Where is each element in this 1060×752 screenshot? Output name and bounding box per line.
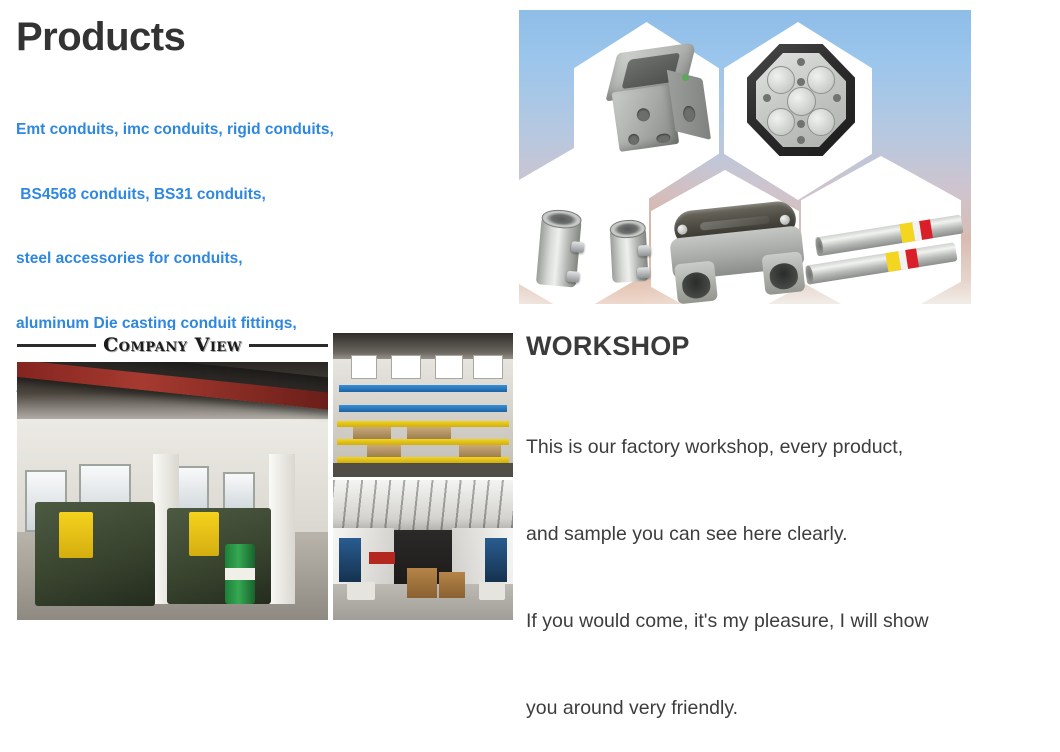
product-list-line: Emt conduits, imc conduits, rigid condui… — [16, 119, 486, 141]
mounting-hole — [797, 78, 805, 86]
product-list-line: BS4568 conduits, BS31 conduits, — [16, 184, 486, 206]
stored-goods — [367, 445, 401, 457]
side-door — [339, 538, 361, 582]
green-drum — [225, 544, 255, 604]
pipe-label-band-red — [919, 219, 933, 239]
mounting-hole — [797, 120, 805, 128]
warehouse-racks-photo — [333, 333, 513, 477]
mounting-hole — [833, 94, 841, 102]
workshop-line: This is our factory workshop, every prod… — [526, 433, 1026, 462]
window — [351, 355, 377, 379]
mounting-hole — [763, 94, 771, 102]
photo-floor — [333, 463, 513, 477]
stored-goods — [353, 427, 391, 439]
support-column — [269, 454, 295, 604]
set-screw — [638, 245, 652, 257]
conduit-body-product — [667, 199, 808, 304]
window — [391, 355, 421, 379]
banner-rule-left — [17, 344, 96, 347]
knockout-disc — [767, 108, 795, 136]
emt-connector-product — [609, 215, 649, 289]
workshop-line: If you would come, it's my pleasure, I w… — [526, 607, 1026, 636]
window — [473, 355, 503, 379]
blue-guard-rail — [339, 405, 507, 412]
stored-goods — [459, 445, 501, 457]
workshop-line: you around very friendly. — [526, 694, 1026, 723]
cardboard-crate — [407, 568, 437, 598]
product-list-line: steel accessories for conduits, — [16, 248, 486, 270]
emt-coupling-product — [535, 204, 582, 293]
banner-rule-right — [249, 344, 328, 347]
goods-sack — [347, 582, 375, 600]
set-screw — [571, 241, 585, 253]
red-banner — [369, 552, 395, 564]
side-door — [485, 538, 507, 582]
mounting-hole — [797, 136, 805, 144]
cardboard-crate — [439, 572, 465, 598]
factory-aisle-photo — [333, 480, 513, 620]
factory-machines-photo — [17, 362, 328, 620]
machine-control-panel — [59, 512, 93, 558]
workshop-description: This is our factory workshop, every prod… — [526, 375, 1026, 752]
octagon-box-product — [747, 44, 855, 156]
pipe-label-band-red — [905, 248, 919, 268]
mounting-hole — [797, 58, 805, 66]
die-casting-machine — [167, 508, 271, 604]
machine-control-panel — [189, 512, 219, 556]
product-collage-image — [519, 10, 971, 304]
page-title: Products — [16, 14, 185, 60]
stored-goods — [407, 427, 451, 439]
blue-guard-rail — [339, 385, 507, 392]
switch-box-product — [604, 42, 714, 158]
company-view-banner: Company View — [17, 330, 328, 360]
cover-ridge — [700, 215, 770, 230]
window — [435, 355, 463, 379]
set-screw — [566, 271, 580, 283]
die-casting-machine — [35, 502, 155, 606]
company-view-label: Company View — [103, 336, 242, 355]
goods-sack — [479, 582, 505, 600]
workshop-title: WORKSHOP — [526, 330, 690, 362]
knockout-disc — [807, 108, 835, 136]
set-screw — [637, 267, 651, 279]
workshop-line: and sample you can see here clearly. — [526, 520, 1026, 549]
